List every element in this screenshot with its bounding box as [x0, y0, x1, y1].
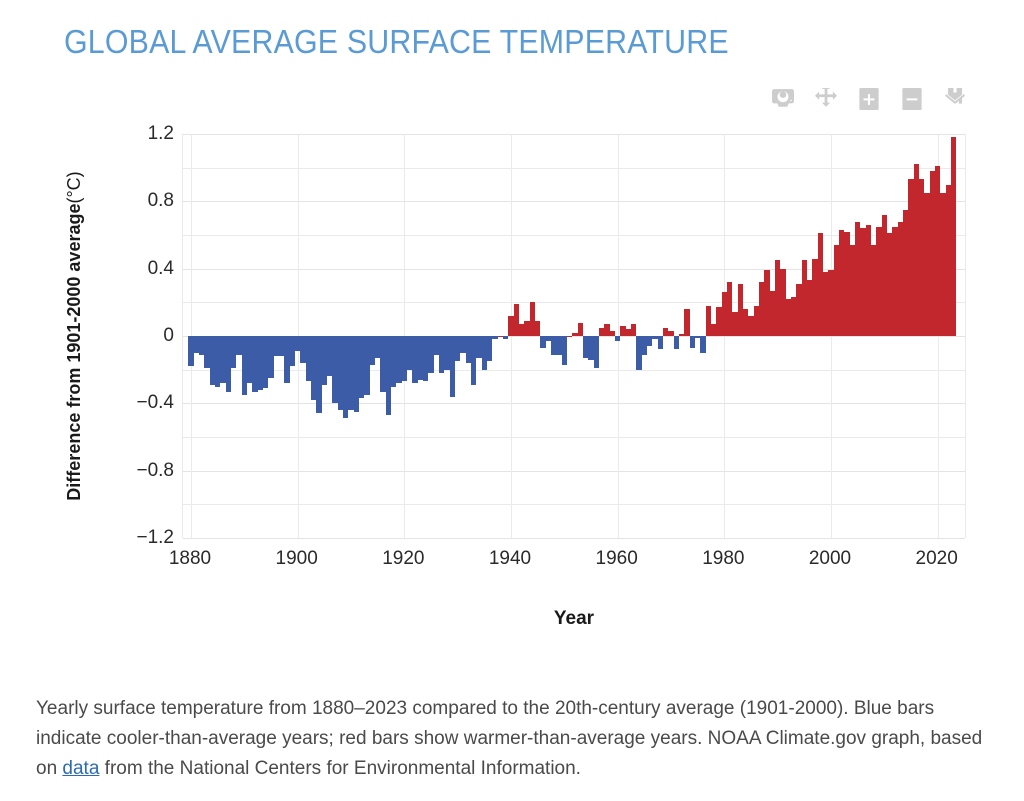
x-axis-tick-label: 2020	[916, 548, 958, 570]
bar-negative[interactable]	[674, 336, 679, 349]
x-axis-tick-label: 1940	[489, 548, 531, 570]
bar-negative[interactable]	[562, 336, 567, 365]
y-axis-tick-label: −0.4	[136, 392, 174, 414]
bar-negative[interactable]	[700, 336, 705, 353]
x-axis-ticks: 18801900192019401960198020002020	[182, 548, 966, 578]
x-axis-tick-label: 2000	[809, 548, 851, 570]
y-axis-title-main: Difference from 1901-2000 average	[64, 204, 85, 501]
caption-text-part2: from the National Centers for Environmen…	[99, 758, 581, 779]
y-axis-tick-label: −0.8	[136, 460, 174, 482]
y-axis-title-unit: (°C)	[64, 171, 85, 203]
y-axis-ticks: 1.20.80.40−0.4−0.8−1.2	[118, 134, 174, 538]
gridline-horizontal	[183, 538, 965, 539]
bar-negative[interactable]	[690, 336, 695, 348]
bar-negative[interactable]	[487, 336, 492, 361]
x-axis-tick-label: 1980	[702, 548, 744, 570]
bar-positive[interactable]	[684, 309, 689, 336]
bar-negative[interactable]	[594, 336, 599, 368]
bar-negative[interactable]	[615, 336, 620, 341]
figure-caption: Yearly surface temperature from 1880–202…	[36, 694, 988, 784]
x-axis-tick-label: 1960	[596, 548, 638, 570]
x-axis-tick-label: 1900	[276, 548, 318, 570]
x-axis-tick-label: 1880	[169, 548, 211, 570]
y-axis-tick-label: 0.4	[148, 258, 174, 280]
y-axis-tick-label: 0	[163, 325, 174, 347]
bar-positive[interactable]	[567, 336, 572, 337]
y-axis-tick-label: 1.2	[148, 123, 174, 145]
plot-area[interactable]	[182, 134, 966, 538]
bar-positive[interactable]	[578, 323, 583, 336]
bar-positive[interactable]	[951, 137, 956, 336]
bar-negative[interactable]	[658, 336, 663, 349]
x-axis-tick-label: 1920	[382, 548, 424, 570]
x-axis-title: Year	[182, 608, 966, 630]
data-link[interactable]: data	[62, 758, 99, 779]
bar-positive[interactable]	[631, 324, 636, 336]
bar-negative[interactable]	[503, 336, 508, 339]
y-axis-title: Difference from 1901-2000 average (°C)	[60, 134, 88, 538]
y-axis-tick-label: −1.2	[136, 527, 174, 549]
chart-container: Difference from 1901-2000 average (°C) 1…	[0, 0, 1024, 660]
bar-positive[interactable]	[535, 321, 540, 336]
bars-layer	[183, 134, 965, 538]
y-axis-tick-label: 0.8	[148, 190, 174, 212]
